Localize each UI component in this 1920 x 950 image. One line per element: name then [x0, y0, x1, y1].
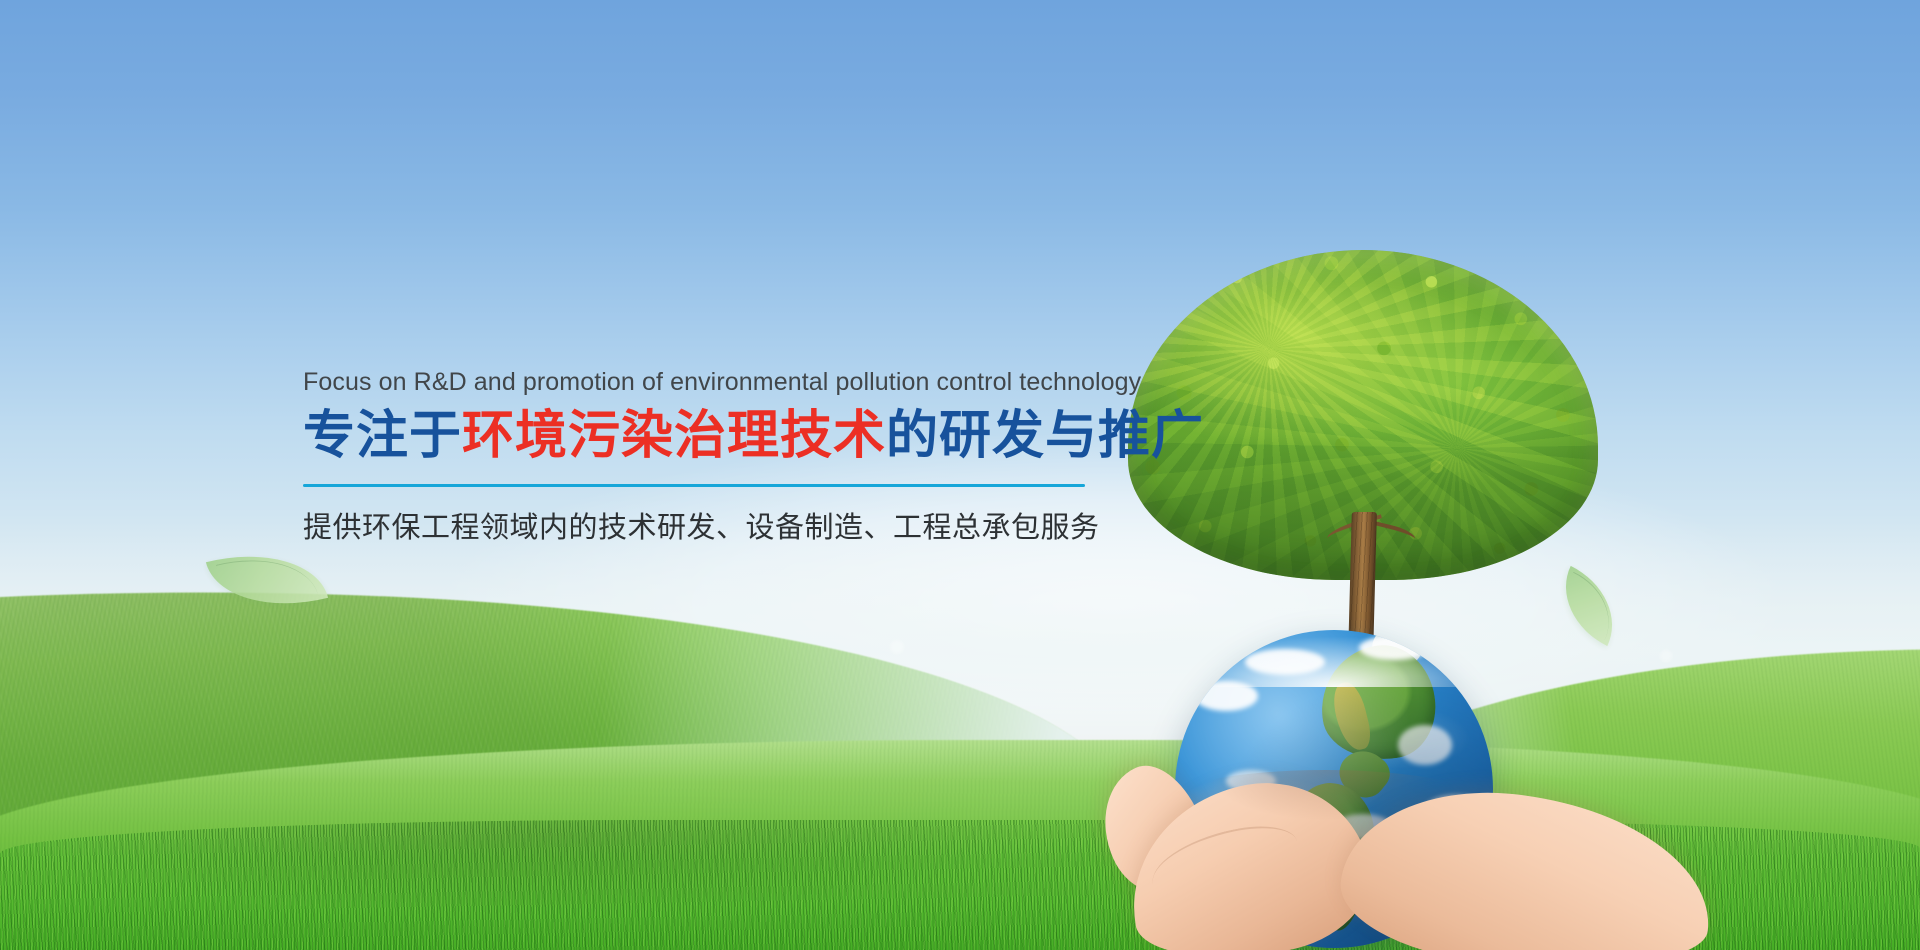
headline-divider	[303, 484, 1085, 487]
banner-subline: 提供环保工程领域内的技术研发、设备制造、工程总承包服务	[303, 507, 1103, 547]
bokeh-particle	[890, 640, 904, 654]
cupped-hands	[1090, 760, 1730, 950]
banner-headline: 专注于环境污染治理技术的研发与推广	[303, 405, 1103, 467]
hero-banner: Focus on R&D and promotion of environmen…	[0, 0, 1920, 950]
banner-eyebrow-english: Focus on R&D and promotion of environmen…	[303, 365, 1103, 399]
banner-copy: Focus on R&D and promotion of environmen…	[303, 365, 1103, 547]
headline-segment-blue-tail: 的研发与推广	[886, 406, 1204, 466]
palm-inner-shadow	[1160, 770, 1490, 840]
bokeh-particle	[1660, 650, 1672, 662]
headline-segment-red-emphasis: 环境污染治理技术	[462, 406, 886, 466]
headline-segment-blue-lead: 专注于	[303, 406, 462, 466]
